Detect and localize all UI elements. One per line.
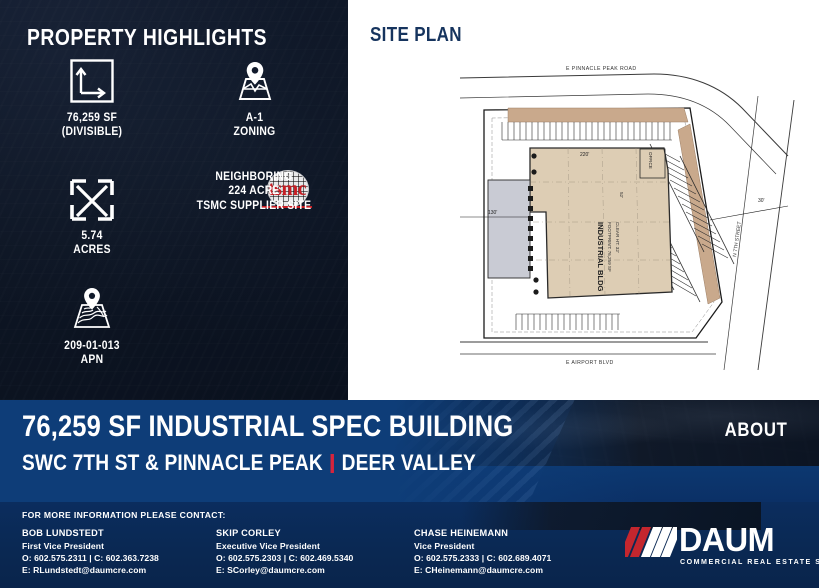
site-plan-panel: SITE PLAN E PINNACLE PEAK ROAD N 7TH STR… [348, 0, 819, 400]
contact-email[interactable]: E: CHeinemann@daumcre.com [414, 564, 551, 576]
topographic-map-pin-icon [22, 286, 162, 332]
property-highlights-title: PROPERTY HIGHLIGHTS [27, 24, 267, 51]
site-plan-title: SITE PLAN [370, 24, 462, 47]
highlight-item-tsmc-neighbor: tsmc NEIGHBORING 224 ACRE TSMC SUPPLIER … [178, 170, 330, 213]
highlights-grid: 76,259 SF (DIVISIBLE) A-1 [0, 58, 348, 400]
contact-email[interactable]: E: RLundstedt@daumcre.com [22, 564, 159, 576]
site-plan-label-building-sub1: FOOTPRINT: 76,259 SF [607, 222, 612, 272]
site-plan-label-office: OFFICE [648, 152, 653, 169]
contact-card: SKIP CORLEY Executive Vice President O: … [216, 527, 353, 577]
site-plan-drawing: E PINNACLE PEAK ROAD N 7TH STREET E AIRP… [458, 52, 810, 370]
daum-wordmark: DAUM [679, 523, 774, 556]
highlight-label-line1: 209-01-013 [29, 339, 155, 353]
brochure-page: PROPERTY HIGHLIGHTS 76,259 SF [0, 0, 819, 588]
expand-arrows-icon [22, 178, 162, 222]
map-pin-icon [182, 58, 327, 104]
daum-logo: DAUM COMMERCIAL REAL ESTATE SERVICES [625, 526, 797, 570]
highlight-label-line3: TSMC SUPPLIER SITE [186, 199, 323, 213]
highlight-label-line2: ACRES [29, 243, 155, 257]
contact-title: First Vice President [22, 540, 159, 552]
contact-title: Executive Vice President [216, 540, 353, 552]
highlight-label-line2: (DIVISIBLE) [29, 125, 155, 139]
banner-subtitle-location: SWC 7TH ST & PINNACLE PEAK [22, 452, 323, 475]
contact-list: BOB LUNDSTEDT First Vice President O: 60… [22, 527, 582, 583]
contact-name: SKIP CORLEY [216, 527, 353, 540]
property-highlights-panel: PROPERTY HIGHLIGHTS 76,259 SF [0, 0, 348, 400]
site-plan-dim-mid: 52' [619, 192, 624, 198]
contact-heading: FOR MORE INFORMATION PLEASE CONTACT: [22, 510, 226, 520]
area-dimensions-icon [22, 58, 162, 104]
contact-footer: FOR MORE INFORMATION PLEASE CONTACT: BOB… [0, 502, 819, 588]
contact-title: Vice President [414, 540, 551, 552]
banner-separator-bar [331, 454, 334, 473]
site-plan-dim-top: 220' [580, 152, 589, 158]
contact-email[interactable]: E: SCorley@daumcre.com [216, 564, 353, 576]
about-label: ABOUT [725, 420, 788, 442]
daum-slashes-icon [625, 527, 677, 557]
highlight-label-line1: NEIGHBORING [186, 170, 323, 184]
highlight-item-zoning: A-1 ZONING [182, 58, 327, 140]
highlight-label-line2: 224 ACRE [186, 184, 323, 198]
contact-card: BOB LUNDSTEDT First Vice President O: 60… [22, 527, 159, 577]
highlight-label-line2: ZONING [189, 125, 320, 139]
contact-name: BOB LUNDSTEDT [22, 527, 159, 540]
contact-phones[interactable]: O: 602.575.2311 | C: 602.363.7238 [22, 552, 159, 564]
highlight-label-line1: 76,259 SF [29, 111, 155, 125]
site-plan-label-building-sub2: CLEAR HT: 32' [615, 222, 620, 253]
daum-tagline: COMMERCIAL REAL ESTATE SERVICES [680, 558, 819, 566]
site-plan-label-building: INDUSTRIAL BLDG [596, 222, 605, 292]
site-plan-dim-right: 30' [758, 198, 765, 204]
site-plan-dim-left: 130' [488, 210, 497, 216]
highlight-label-line2: APN [29, 353, 155, 367]
highlight-label-line1: A-1 [189, 111, 320, 125]
contact-phones[interactable]: O: 602.575.2303 | C: 602.469.5340 [216, 552, 353, 564]
highlight-item-square-footage: 76,259 SF (DIVISIBLE) [22, 58, 162, 140]
banner-subtitle: SWC 7TH ST & PINNACLE PEAK DEER VALLEY [22, 452, 476, 475]
contact-name: CHASE HEINEMANN [414, 527, 551, 540]
banner-title: 76,259 SF INDUSTRIAL SPEC BUILDING [22, 412, 513, 442]
highlight-item-apn: 209-01-013 APN [22, 286, 162, 368]
site-plan-label-north-road: E PINNACLE PEAK ROAD [566, 66, 637, 72]
site-plan-label-south-road: E AIRPORT BLVD [566, 360, 614, 366]
banner-subtitle-submarket: DEER VALLEY [342, 452, 476, 475]
highlight-label-line1: 5.74 [29, 229, 155, 243]
contact-card: CHASE HEINEMANN Vice President O: 602.57… [414, 527, 551, 577]
top-section: PROPERTY HIGHLIGHTS 76,259 SF [0, 0, 819, 400]
title-banner: 76,259 SF INDUSTRIAL SPEC BUILDING SWC 7… [0, 400, 819, 502]
highlight-item-acreage: 5.74 ACRES [22, 178, 162, 258]
contact-phones[interactable]: O: 602.575.2333 | C: 602.689.4071 [414, 552, 551, 564]
